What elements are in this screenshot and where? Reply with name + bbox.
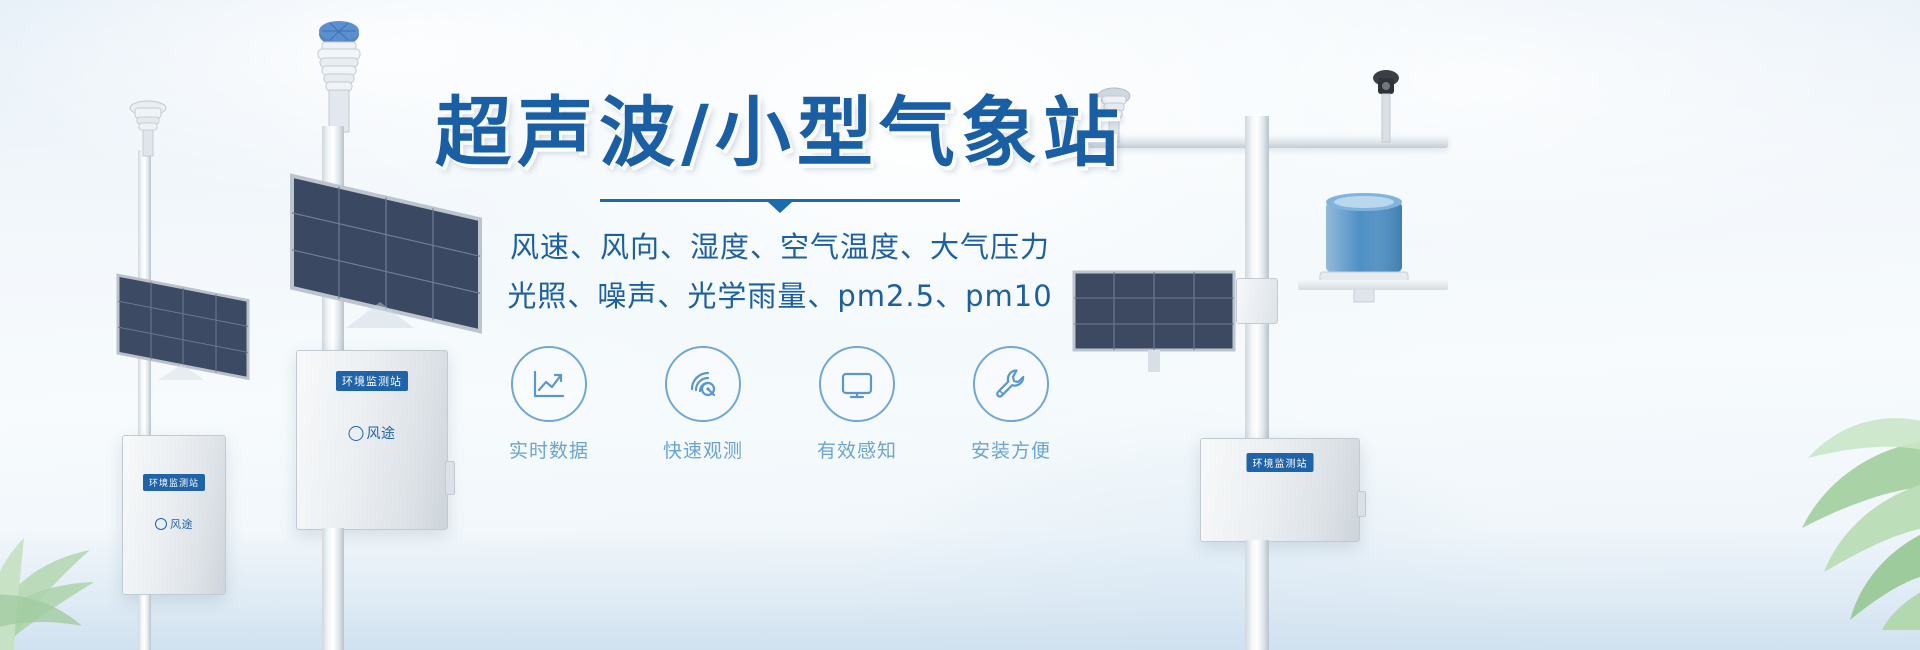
brand-name: 风途 [170, 516, 193, 532]
support-shelf [1298, 280, 1448, 290]
radar-signal-icon [665, 346, 741, 422]
feature-label: 有效感知 [802, 436, 912, 463]
feature-item-fast-observation[interactable]: 快速观测 [648, 346, 758, 463]
page-title: 超声波/小型气象站 [430, 92, 1130, 174]
line-chart-icon [511, 346, 587, 422]
feature-label: 快速观测 [648, 436, 758, 463]
cabinet-enclosure-right: 环境监测站 [1200, 438, 1360, 542]
wrench-icon [973, 346, 1049, 422]
feature-item-effective-sensing[interactable]: 有效感知 [802, 346, 912, 463]
cabinet-enclosure-center: 环境监测站 风途 [296, 350, 448, 530]
feature-list: 实时数据 快速观测 [430, 346, 1130, 463]
cabinet-latch [445, 461, 455, 495]
brand-mark-icon [349, 426, 364, 441]
down-triangle-icon [768, 202, 792, 213]
weather-station-small-left: 环境监测站 风途 [108, 90, 258, 650]
subtitle-line-1: 风速、风向、湿度、空气温度、大气压力 [430, 224, 1130, 271]
cabinet-latch [1357, 491, 1366, 517]
subtitle-line-2: 光照、噪声、光学雨量、pm2.5、pm10 [430, 273, 1130, 320]
cabinet-brand: 风途 [155, 516, 193, 532]
cabinet-enclosure-left: 环境监测站 风途 [122, 435, 226, 595]
feature-label: 实时数据 [494, 436, 604, 463]
brand-mark-icon [155, 518, 167, 530]
junction-box [1236, 278, 1278, 324]
monitor-screen-icon [819, 346, 895, 422]
title-divider [600, 196, 960, 210]
brand-name: 风途 [367, 423, 396, 443]
feature-item-realtime-data[interactable]: 实时数据 [494, 346, 604, 463]
cabinet-label: 环境监测站 [1247, 453, 1314, 472]
banner-content: 超声波/小型气象站 风速、风向、湿度、空气温度、大气压力 光照、噪声、光学雨量、… [430, 92, 1130, 463]
feature-item-easy-install[interactable]: 安装方便 [956, 346, 1066, 463]
cabinet-label: 环境监测站 [143, 474, 205, 491]
cabinet-brand: 风途 [349, 423, 396, 443]
product-banner: 环境监测站 风途 [0, 0, 1920, 650]
feature-label: 安装方便 [956, 436, 1066, 463]
cabinet-label: 环境监测站 [336, 371, 408, 391]
